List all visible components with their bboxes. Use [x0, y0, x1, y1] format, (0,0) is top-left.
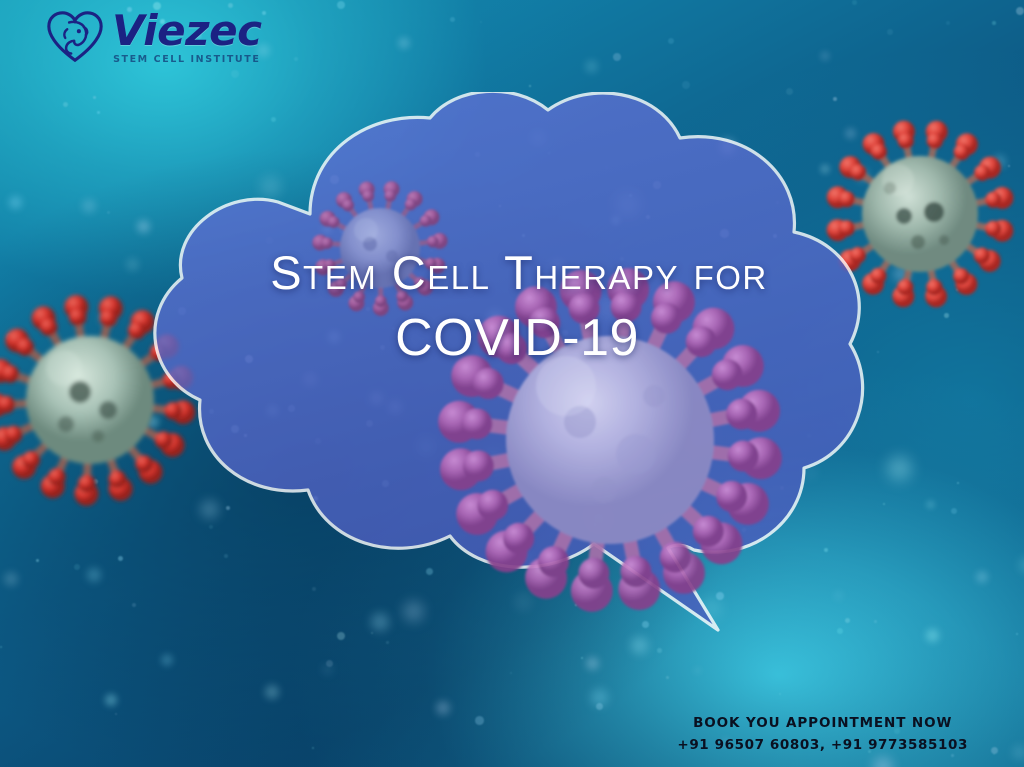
heart-embryo-icon [44, 6, 106, 68]
contact-block[interactable]: BOOK YOU APPOINTMENT NOW +91 96507 60803… [677, 713, 968, 756]
poster-canvas: Viezec STEM CELL INSTITUTE [0, 0, 1024, 767]
logo-text-group: Viezec STEM CELL INSTITUTE [112, 10, 261, 65]
contact-heading: BOOK YOU APPOINTMENT NOW [677, 713, 968, 733]
contact-phone-numbers[interactable]: +91 96507 60803, +91 9773585103 [677, 735, 968, 755]
cloud-speech-bubble [78, 92, 898, 652]
logo-wordmark: Viezec [112, 10, 261, 52]
brand-logo[interactable]: Viezec STEM CELL INSTITUTE [44, 6, 261, 68]
logo-tagline: STEM CELL INSTITUTE [113, 55, 260, 65]
